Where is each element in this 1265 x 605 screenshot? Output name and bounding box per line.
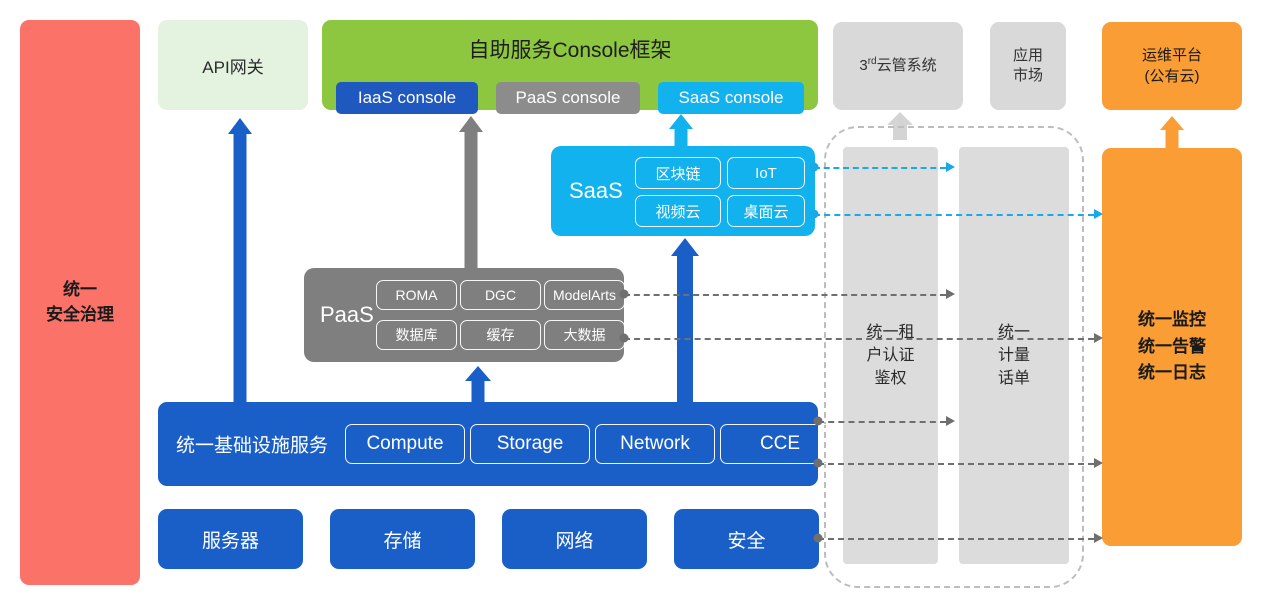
unified-infrastructure-label: 统一基础设施服务 xyxy=(176,431,328,458)
saas-tile-video-cloud[interactable]: 视频云 xyxy=(635,195,721,227)
saas-tile-iot[interactable]: IoT xyxy=(727,157,805,189)
connector-infra-to-ops xyxy=(818,463,1094,465)
metering-line1: 统一 xyxy=(998,321,1030,344)
infra-tile-compute[interactable]: Compute xyxy=(345,424,465,464)
hardware-box-security[interactable]: 安全 xyxy=(674,509,819,569)
connector-saas-to-ops xyxy=(814,214,1094,216)
security-governance-line2: 安全治理 xyxy=(46,303,114,328)
app-market-card[interactable]: 应用 市场 xyxy=(990,22,1066,110)
unified-monitor-label: 统一监控 xyxy=(1138,307,1206,333)
hardware-box-storage[interactable]: 存储 xyxy=(330,509,475,569)
hardware-label-storage: 存储 xyxy=(383,526,421,553)
connector-saas-to-tenant-auth xyxy=(814,167,946,169)
unified-infrastructure-bar: 统一基础设施服务 Compute Storage Network CCE xyxy=(158,402,818,486)
hardware-box-network[interactable]: 网络 xyxy=(502,509,647,569)
arrow-infra-to-saas xyxy=(661,238,709,404)
third-party-suffix: 云管系统 xyxy=(877,57,937,74)
saas-layer-label: SaaS xyxy=(569,178,623,204)
saas-layer-box: SaaS 区块链 IoT 视频云 桌面云 xyxy=(551,146,815,236)
paas-tile-bigdata[interactable]: 大数据 xyxy=(544,320,625,350)
arrow-infra-to-paas xyxy=(456,366,500,404)
third-party-cloud-mgmt-label: 3rd云管系统 xyxy=(859,55,936,76)
unified-log-label: 统一日志 xyxy=(1138,360,1206,386)
unified-tenant-auth-column[interactable]: 统一租 户认证 鉴权 xyxy=(843,147,938,564)
connector-arrowhead-saas-bottom xyxy=(1094,209,1103,219)
connector-arrowhead-hardware xyxy=(1094,533,1103,543)
saas-tile-blockchain[interactable]: 区块链 xyxy=(635,157,721,189)
paas-tile-dgc[interactable]: DGC xyxy=(460,280,541,310)
paas-layer-label: PaaS xyxy=(320,302,374,328)
connector-arrowhead-infra-bottom xyxy=(1094,458,1103,468)
hardware-label-network: 网络 xyxy=(555,526,593,553)
hardware-box-server[interactable]: 服务器 xyxy=(158,509,303,569)
paas-layer-box: PaaS ROMA DGC ModelArts 数据库 缓存 大数据 xyxy=(304,268,624,362)
infra-tile-cce[interactable]: CCE xyxy=(720,424,840,464)
arrow-infra-to-api-gateway xyxy=(215,118,265,404)
third-party-superscript: rd xyxy=(868,56,877,67)
paas-tile-database[interactable]: 数据库 xyxy=(376,320,457,350)
connector-arrowhead-paas-bottom xyxy=(1094,333,1103,343)
api-gateway-label: API网关 xyxy=(202,53,263,78)
saas-tile-desktop-cloud[interactable]: 桌面云 xyxy=(727,195,805,227)
connector-paas-to-ops xyxy=(624,338,1094,340)
unified-alarm-label: 统一告警 xyxy=(1138,334,1206,360)
tenant-auth-line3: 鉴权 xyxy=(874,367,906,390)
security-governance-panel: 统一 安全治理 xyxy=(20,20,140,585)
hardware-label-security: 安全 xyxy=(727,526,765,553)
ops-platform-line1: 运维平台 xyxy=(1142,45,1202,66)
ops-platform-card[interactable]: 运维平台 (公有云) xyxy=(1102,22,1242,110)
arrow-paas-to-console xyxy=(447,116,495,268)
saas-console-chip[interactable]: SaaS console xyxy=(658,82,804,114)
paas-tile-cache[interactable]: 缓存 xyxy=(460,320,541,350)
connector-arrowhead-paas-top xyxy=(946,289,955,299)
unified-ops-panel: 统一监控 统一告警 统一日志 xyxy=(1102,148,1242,546)
connector-paas-to-tenant-auth xyxy=(624,294,946,296)
unified-metering-column[interactable]: 统一 计量 话单 xyxy=(959,147,1069,564)
tenant-auth-line2: 户认证 xyxy=(866,344,914,367)
architecture-diagram: 统一 安全治理 API网关 自助服务Console框架 IaaS console… xyxy=(0,0,1265,605)
infra-tile-network[interactable]: Network xyxy=(595,424,715,464)
metering-line2: 计量 xyxy=(998,344,1030,367)
iaas-console-chip[interactable]: IaaS console xyxy=(336,82,478,114)
connector-arrowhead-infra-top xyxy=(946,416,955,426)
connector-infra-to-tenant-auth xyxy=(818,421,946,423)
tenant-auth-line1: 统一租 xyxy=(866,321,914,344)
connector-arrowhead-saas-top xyxy=(946,162,955,172)
app-market-line2: 市场 xyxy=(1013,66,1043,86)
console-frame-title: 自助服务Console框架 xyxy=(322,34,818,64)
paas-console-chip[interactable]: PaaS console xyxy=(496,82,640,114)
connector-hardware-to-ops xyxy=(818,538,1094,540)
third-party-cloud-mgmt-card[interactable]: 3rd云管系统 xyxy=(833,22,963,110)
arrow-to-ops-platform xyxy=(1152,116,1192,148)
paas-tile-modelarts[interactable]: ModelArts xyxy=(544,280,625,310)
app-market-line1: 应用 xyxy=(1013,46,1043,66)
api-gateway-card[interactable]: API网关 xyxy=(158,20,308,110)
metering-line3: 话单 xyxy=(998,367,1030,390)
third-party-prefix: 3 xyxy=(859,57,867,74)
infra-tile-storage[interactable]: Storage xyxy=(470,424,590,464)
paas-tile-roma[interactable]: ROMA xyxy=(376,280,457,310)
self-service-console-frame: 自助服务Console框架 IaaS console PaaS console … xyxy=(322,20,818,110)
security-governance-line1: 统一 xyxy=(63,278,97,303)
hardware-label-server: 服务器 xyxy=(202,526,259,553)
ops-platform-line2: (公有云) xyxy=(1145,66,1200,87)
